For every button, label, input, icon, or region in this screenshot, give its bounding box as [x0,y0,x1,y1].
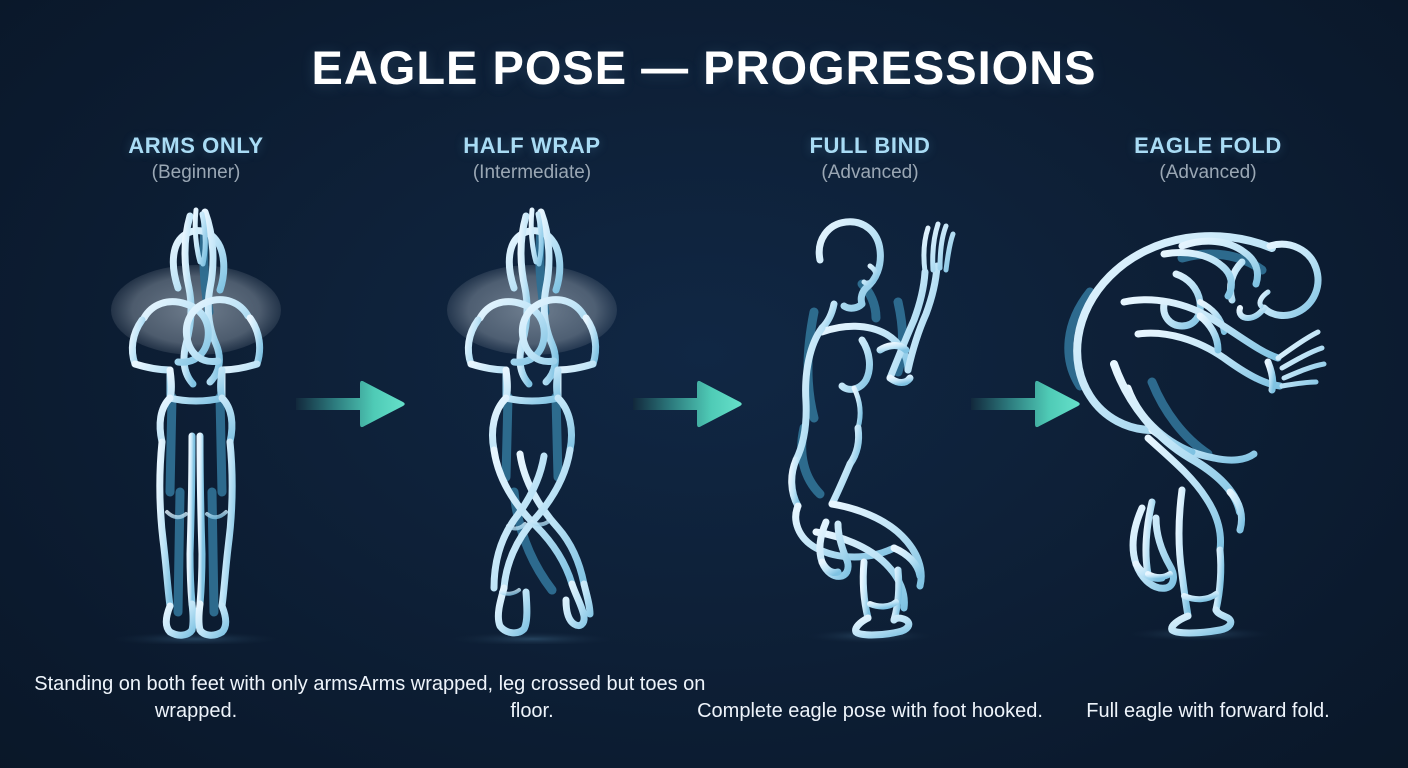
torso-right [222,364,257,398]
stage-caption: Arms wrapped, leg crossed but toes on fl… [356,671,708,724]
stage-caption: Full eagle with forward fold. [1032,698,1384,724]
waist-back [792,460,798,506]
leg-left-inner [190,436,192,604]
ankle-band-2 [1148,574,1170,577]
ground-shadow [114,632,278,644]
stage-caption: Complete eagle pose with foot hooked. [694,698,1046,724]
stage-name: FULL BIND [694,133,1046,159]
stage-column-eagle-fold: EAGLE FOLD (Advanced) [1032,0,1384,768]
hooked-foot-toe [822,562,838,573]
torso-right [558,364,593,398]
stage-header: ARMS ONLY (Beginner) [20,133,372,184]
torso-left [135,364,170,398]
stage-name: EAGLE FOLD [1032,133,1384,159]
abdomen-front [850,428,859,464]
face-nose [1260,292,1268,306]
bust-detail [854,388,860,428]
arm-wrap-inner [1138,333,1280,386]
face-nose [864,266,876,283]
ankle-band [870,602,896,606]
stage-name: HALF WRAP [356,133,708,159]
stage-level: (Intermediate) [356,162,708,184]
stage-header: FULL BIND (Advanced) [694,133,1046,184]
stage-level: (Beginner) [20,162,372,184]
stage-header: HALF WRAP (Intermediate) [356,133,708,184]
chest-front [842,340,869,389]
stage-header: EAGLE FOLD (Advanced) [1032,133,1384,184]
foot-pointed [566,584,590,626]
leg-right-inner [200,436,202,604]
stage-name: ARMS ONLY [20,133,372,159]
thigh-outer [1114,364,1240,512]
standing-foot [856,618,909,635]
stage-level: (Advanced) [694,162,1046,184]
face-jaw [1239,308,1264,318]
shin-standing [1146,502,1152,574]
shin-standing-back [863,562,868,618]
neck [822,304,834,328]
hip-front [832,464,850,504]
elbow-wrap [880,346,906,351]
hand-fingers [924,224,953,272]
standing-foot [1172,610,1231,633]
ankle-band [1184,594,1216,599]
wrist-wrap [890,378,910,383]
shin-front-b [1216,550,1221,610]
stage-level: (Advanced) [1032,162,1384,184]
ground-shadow [452,632,612,644]
stage-caption: Standing on both feet with only arms wra… [20,671,372,724]
figure-profile-eagle-forward-fold [1032,192,1384,644]
infographic-canvas: EAGLE POSE — PROGRESSIONS ARMS ONLY (Beg… [0,0,1408,768]
hand-fingers [1278,332,1324,386]
torso-left [471,364,506,398]
back-line [796,328,822,460]
head-outline [1264,244,1318,315]
